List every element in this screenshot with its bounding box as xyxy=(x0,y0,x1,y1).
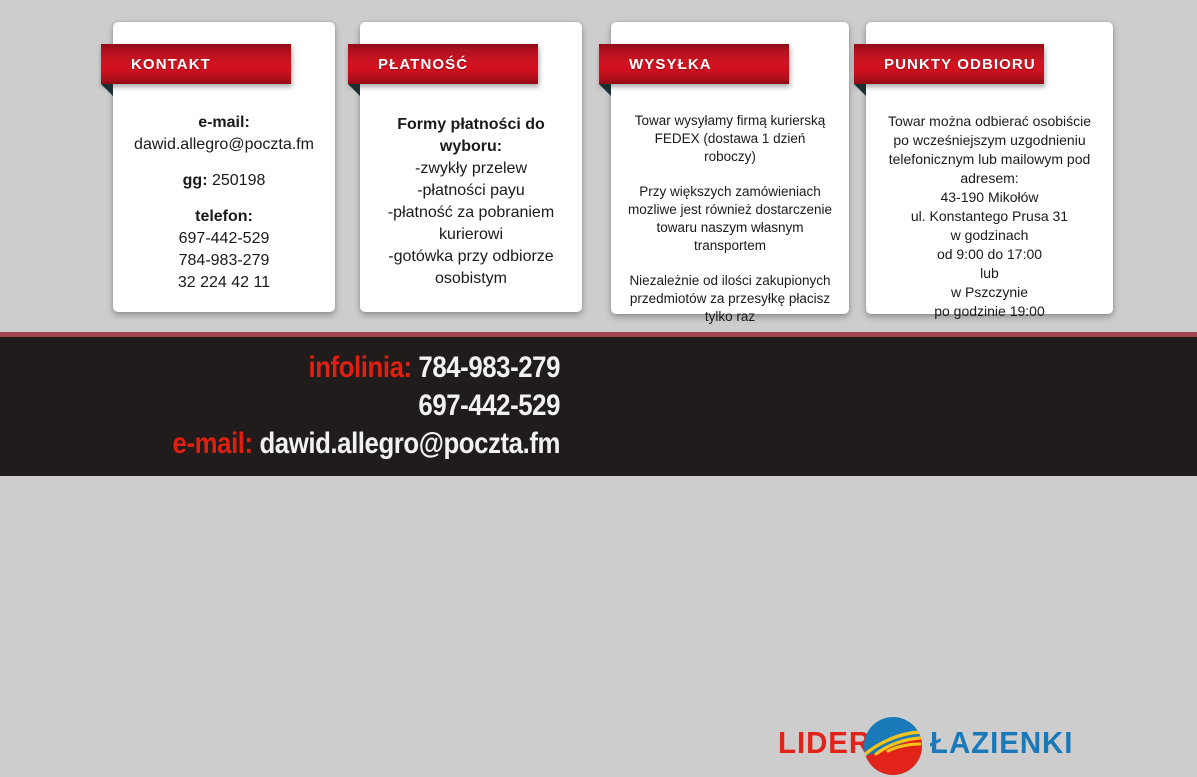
footer-infolinia-label: infolinia: xyxy=(308,351,411,384)
footer-infoline-row: infolinia: 784-983-279 xyxy=(78,349,560,387)
card-platnosc-title: PŁATNOŚĆ xyxy=(378,56,468,73)
phone-value: 32 224 42 11 xyxy=(123,272,325,294)
ribbon-banner: PŁATNOŚĆ xyxy=(348,44,538,84)
spacer xyxy=(123,156,325,170)
footer-infolinia-number[interactable]: 784-983-279 xyxy=(418,351,560,384)
logo-word-lider: LIDER xyxy=(778,725,871,761)
brand-logo[interactable]: LIDER ŁAZIENKI xyxy=(778,715,1098,775)
address-postcode-city: 43-190 Mikołów xyxy=(878,188,1101,207)
phone-value: 697-442-529 xyxy=(123,228,325,250)
footer-contact-block: infolinia: 784-983-279 697-442-529 e-mai… xyxy=(0,349,560,463)
text-line: roboczy) xyxy=(623,148,837,166)
text-line: Towar można odbierać osobiście xyxy=(878,112,1101,131)
spacer xyxy=(623,255,837,272)
spacer xyxy=(623,166,837,183)
footer-phone-row: 697-442-529 xyxy=(78,387,560,425)
text-line: w Pszczynie xyxy=(878,283,1101,302)
footer-email-address[interactable]: dawid.allegro@poczta.fm xyxy=(259,427,560,460)
card-punkty-odbioru-body: Towar można odbierać osobiście po wcześn… xyxy=(866,112,1113,321)
card-platnosc-body: Formy płatności do wyboru: -zwykły przel… xyxy=(360,114,582,290)
card-platnosc: PŁATNOŚĆ Formy płatności do wyboru: -zwy… xyxy=(360,22,582,312)
payment-option: osobistym xyxy=(370,268,572,290)
circle-swoosh-mark-icon xyxy=(862,715,924,777)
card-wysylka: WYSYŁKA Towar wysyłamy firmą kurierską F… xyxy=(611,22,849,314)
card-punkty-odbioru-title: PUNKTY ODBIORU xyxy=(884,56,1036,73)
card-wysylka-title: WYSYŁKA xyxy=(629,56,712,73)
logo-word-lazienki: ŁAZIENKI xyxy=(930,725,1073,761)
text-line: przedmiotów za przesyłkę płacisz xyxy=(623,290,837,308)
footer-email-row: e-mail: dawid.allegro@poczta.fm xyxy=(78,425,560,463)
ribbon-fold-icon xyxy=(101,84,113,96)
text-line: Formy płatności do xyxy=(370,114,572,136)
text-line: telefonicznym lub mailowym pod xyxy=(878,150,1101,169)
text-line: Towar wysyłamy firmą kurierską xyxy=(623,112,837,130)
opening-hours: po godzinie 19:00 xyxy=(878,302,1101,321)
text-line: lub xyxy=(878,264,1101,283)
opening-hours: od 9:00 do 17:00 xyxy=(878,245,1101,264)
text-line: Przy większych zamówieniach xyxy=(623,183,837,201)
address-street: ul. Konstantego Prusa 31 xyxy=(878,207,1101,226)
ribbon-banner: PUNKTY ODBIORU xyxy=(854,44,1044,84)
ribbon-fold-icon xyxy=(854,84,866,96)
text-line: telefon: xyxy=(123,206,325,228)
card-kontakt-title: KONTAKT xyxy=(131,56,211,73)
email-value: dawid.allegro@poczta.fm xyxy=(123,134,325,156)
payment-option: -płatności payu xyxy=(370,180,572,202)
text-line: FEDEX (dostawa 1 dzień xyxy=(623,130,837,148)
text-line: tylko raz xyxy=(623,308,837,326)
ribbon-banner: WYSYŁKA xyxy=(599,44,789,84)
text-line: transportem xyxy=(623,237,837,255)
text-line: mozliwe jest również dostarczenie xyxy=(623,201,837,219)
text-line: wyboru: xyxy=(370,136,572,158)
ribbon-fold-icon xyxy=(599,84,611,96)
info-cards-section: KONTAKT e-mail: dawid.allegro@poczta.fm … xyxy=(0,0,1197,332)
payment-option: kurierowi xyxy=(370,224,572,246)
payment-option: -płatność za pobraniem xyxy=(370,202,572,224)
card-wysylka-body: Towar wysyłamy firmą kurierską FEDEX (do… xyxy=(611,112,849,326)
gg-value: gg: 250198 xyxy=(123,170,325,192)
gg-label: gg: xyxy=(183,172,208,189)
phone-value: 784-983-279 xyxy=(123,250,325,272)
payment-option: -gotówka przy odbiorze xyxy=(370,246,572,268)
text-line: e-mail: xyxy=(123,112,325,134)
footer-bar: infolinia: 784-983-279 697-442-529 e-mai… xyxy=(0,337,1197,476)
card-platnosc-ribbon: PŁATNOŚĆ xyxy=(348,44,538,84)
text-line: w godzinach xyxy=(878,226,1101,245)
card-punkty-odbioru: PUNKTY ODBIORU Towar można odbierać osob… xyxy=(866,22,1113,314)
text-line: po wcześniejszym uzgodnieniu xyxy=(878,131,1101,150)
card-kontakt-body: e-mail: dawid.allegro@poczta.fm gg: 2501… xyxy=(113,112,335,294)
card-kontakt: KONTAKT e-mail: dawid.allegro@poczta.fm … xyxy=(113,22,335,312)
text-line: adresem: xyxy=(878,169,1101,188)
gg-number: 250198 xyxy=(212,172,265,189)
payment-option: -zwykły przelew xyxy=(370,158,572,180)
card-kontakt-ribbon: KONTAKT xyxy=(101,44,291,84)
footer-email-label: e-mail: xyxy=(173,427,253,460)
ribbon-banner: KONTAKT xyxy=(101,44,291,84)
text-line: Niezależnie od ilości zakupionych xyxy=(623,272,837,290)
spacer xyxy=(123,192,325,206)
text-line: towaru naszym własnym xyxy=(623,219,837,237)
card-punkty-odbioru-ribbon: PUNKTY ODBIORU xyxy=(854,44,1044,84)
ribbon-fold-icon xyxy=(348,84,360,96)
card-wysylka-ribbon: WYSYŁKA xyxy=(599,44,789,84)
footer-secondary-phone[interactable]: 697-442-529 xyxy=(418,389,560,422)
